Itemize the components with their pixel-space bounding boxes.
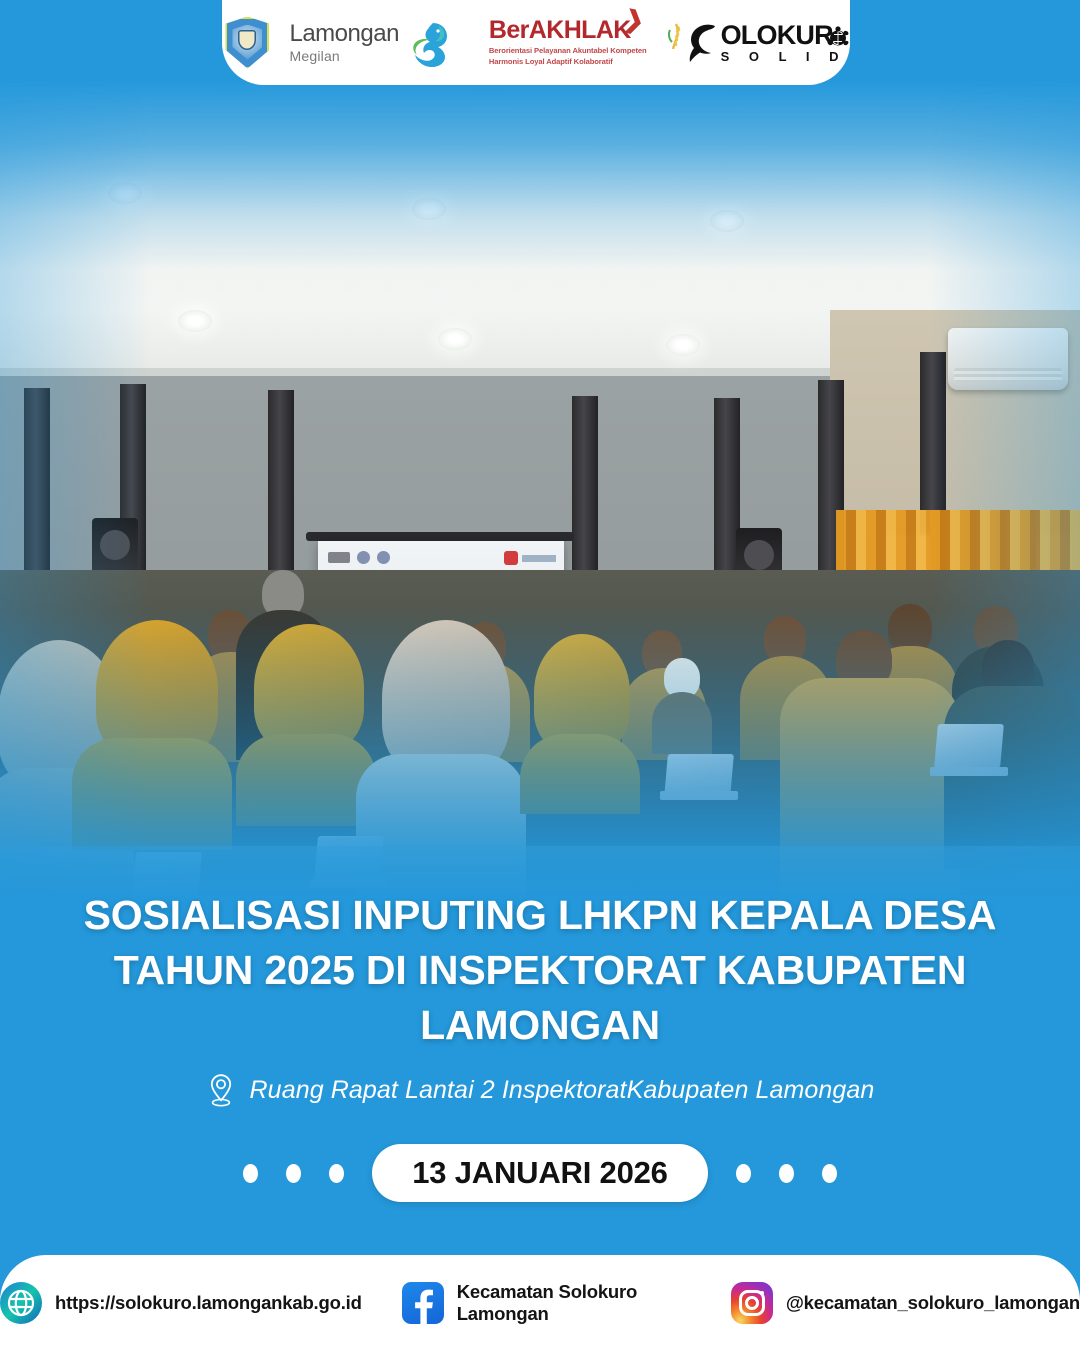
turtle-icon — [825, 26, 851, 50]
header-logo-bar: Lamongan Megilan BerAKHLAK ❯ Berorientas… — [222, 0, 850, 85]
berakhlak-wordmark: BerAKHLAK ❯ — [489, 18, 631, 43]
footer-bar: https://solokuro.lamongankab.go.id Kecam… — [0, 1255, 1080, 1350]
berakhlak-tagline-line2: Harmonis Loyal Adaptif Kolaboratif — [489, 57, 647, 68]
date-row: 13 JANUARI 2026 — [0, 1140, 1080, 1206]
photo-tint-sides — [0, 80, 1080, 910]
wheat-icon — [667, 22, 683, 64]
lamongan-label: Lamongan — [289, 22, 398, 46]
lamongan-seal-icon — [225, 17, 269, 69]
footer-website[interactable]: https://solokuro.lamongankab.go.id — [0, 1282, 362, 1324]
location-text: Ruang Rapat Lantai 2 InspektoratKabupate… — [250, 1076, 875, 1105]
date-badge: 13 JANUARI 2026 — [372, 1144, 707, 1202]
lamongan-megilan-logo: Lamongan Megilan — [289, 19, 448, 67]
instagram-dot — [760, 1291, 764, 1295]
instagram-lens — [745, 1296, 759, 1310]
dots-left — [243, 1164, 344, 1183]
location-row: Ruang Rapat Lantai 2 InspektoratKabupate… — [0, 1072, 1080, 1108]
berakhlak-tagline-line1: Berorientasi Pelayanan Akuntabel Kompete… — [489, 46, 647, 57]
instagram-icon — [731, 1282, 773, 1324]
berakhlak-logo: BerAKHLAK ❯ Berorientasi Pelayanan Akunt… — [489, 18, 647, 68]
megilan-label: Megilan — [289, 49, 398, 63]
dots-right — [736, 1164, 837, 1183]
location-pin-icon — [206, 1072, 236, 1108]
decorative-dot — [822, 1164, 837, 1183]
poster-root: SOSIALISASI INPUTING LHKPN KEPALA DESA T… — [0, 0, 1080, 1350]
fish-s-icon — [685, 20, 719, 66]
globe-icon — [0, 1282, 42, 1324]
page-title: SOSIALISASI INPUTING LHKPN KEPALA DESA T… — [60, 888, 1020, 1053]
decorative-dot — [286, 1164, 301, 1183]
seal-crest — [238, 30, 256, 50]
berakhlak-swoosh-icon: ❯ — [622, 7, 646, 35]
solid-label: S O L I D — [721, 50, 847, 63]
decorative-dot — [329, 1164, 344, 1183]
lamongan-wave-fish-icon — [403, 19, 449, 67]
lamongan-megilan-text: Lamongan Megilan — [289, 22, 398, 63]
decorative-dot — [243, 1164, 258, 1183]
photo-scene: SOSIALISASI INPUTING LHKPN KEPALA DESA T… — [0, 80, 1080, 910]
website-label: https://solokuro.lamongankab.go.id — [55, 1292, 362, 1314]
facebook-icon — [402, 1282, 444, 1324]
instagram-label: @kecamatan_solokuro_lamongan — [786, 1292, 1080, 1314]
decorative-dot — [736, 1164, 751, 1183]
event-photo: SOSIALISASI INPUTING LHKPN KEPALA DESA T… — [0, 80, 1080, 910]
decorative-dot — [779, 1164, 794, 1183]
facebook-label: Kecamatan Solokuro Lamongan — [457, 1281, 691, 1325]
berakhlak-tagline: Berorientasi Pelayanan Akuntabel Kompete… — [489, 46, 647, 68]
footer-instagram[interactable]: @kecamatan_solokuro_lamongan — [731, 1282, 1080, 1324]
footer-facebook[interactable]: Kecamatan Solokuro Lamongan — [402, 1281, 691, 1325]
berakhlak-text: BerAKHLAK — [489, 16, 631, 44]
solokuro-solid-logo: OLOKUR S O L I D — [667, 20, 847, 66]
